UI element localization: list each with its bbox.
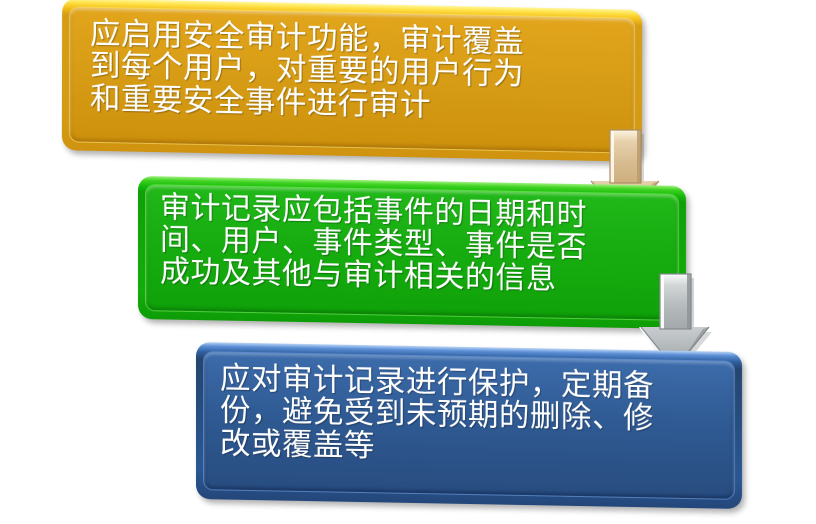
callout-text-audit-record: 审计记录应包括事件的日期和时 间、用户、事件类型、事件是否 成功及其他与审计相关… <box>160 192 587 295</box>
slide-canvas: 应启用安全审计功能，审计覆盖 到每个用户，对重要的用户行为 和重要安全事件进行审… <box>0 0 816 524</box>
callout-box-audit-record[interactable]: 审计记录应包括事件的日期和时 间、用户、事件类型、事件是否 成功及其他与审计相关… <box>138 176 686 329</box>
callout-box-audit-protect[interactable]: 应对审计记录进行保护，定期备 份，避免受到未预期的删除、修 改或覆盖等 <box>196 342 742 509</box>
callout-text-audit-enable: 应启用安全审计功能，审计覆盖 到每个用户，对重要的用户行为 和重要安全事件进行审… <box>90 18 524 124</box>
callout-text-audit-protect: 应对审计记录进行保护，定期备 份，避免受到未预期的删除、修 改或覆盖等 <box>220 362 654 467</box>
callout-box-audit-enable[interactable]: 应启用安全审计功能，审计覆盖 到每个用户，对重要的用户行为 和重要安全事件进行审… <box>62 0 642 162</box>
